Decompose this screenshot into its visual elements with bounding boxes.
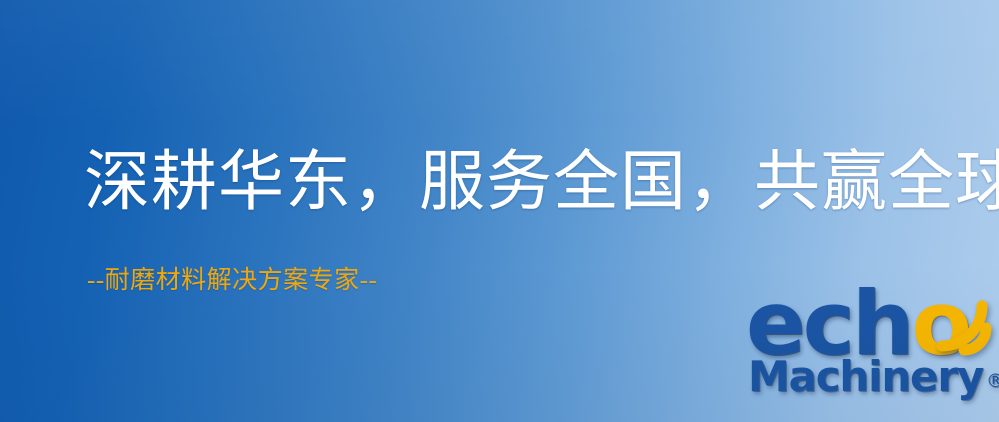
promo-banner: 深耕华东，服务全国，共赢全球 --耐磨材料解决方案专家-- echo Machi… — [0, 0, 999, 422]
registered-trademark-icon: ® — [986, 370, 999, 392]
logo-tagline-text: Machinery — [748, 352, 983, 401]
banner-headline: 深耕华东，服务全国，共赢全球 — [84, 150, 999, 216]
brand-logo[interactable]: echo Machinery® — [744, 294, 999, 422]
logo-tagline: Machinery® — [748, 356, 999, 398]
banner-subtitle: --耐磨材料解决方案专家-- — [87, 268, 377, 293]
